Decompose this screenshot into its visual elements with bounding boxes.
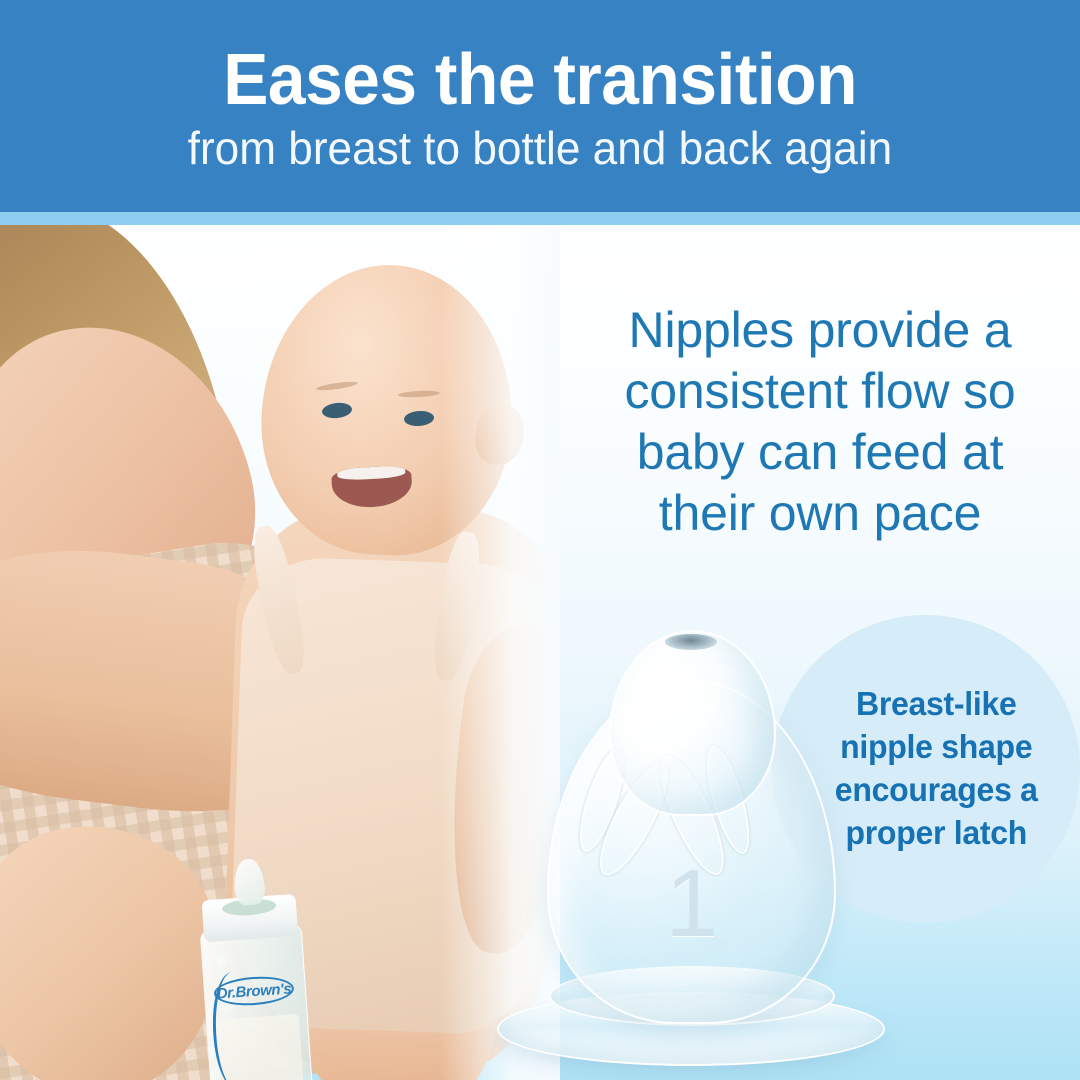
page-subtitle: from breast to bottle and back again [188,124,893,174]
page-title: Eases the transition [223,44,857,117]
body-copy-line-1: Nipples provide a [560,300,1080,361]
nipple-bulb-tip [609,630,776,816]
product-nipple: 1 [487,620,887,1080]
body-copy-line-4: their own pace [560,483,1080,544]
body-copy-line-2: consistent flow so [560,361,1080,422]
nipple-level-marking: 1 [647,856,737,952]
body-copy: Nipples provide a consistent flow so bab… [560,300,1080,544]
header-banner: Eases the transition from breast to bott… [0,0,1080,212]
bottle-nipple [233,858,266,906]
header-divider-rule [0,212,1080,225]
nipple-feeding-hole [665,634,717,650]
body-copy-line-3: baby can feed at [560,422,1080,483]
product-feature-infographic: Eases the transition from breast to bott… [0,0,1080,1080]
main-stage: Dr.Brown's Nipples provide a consistent … [0,225,1080,1080]
lifestyle-photo: Dr.Brown's [0,225,560,1080]
baby-bottle: Dr.Brown's [189,855,319,1080]
